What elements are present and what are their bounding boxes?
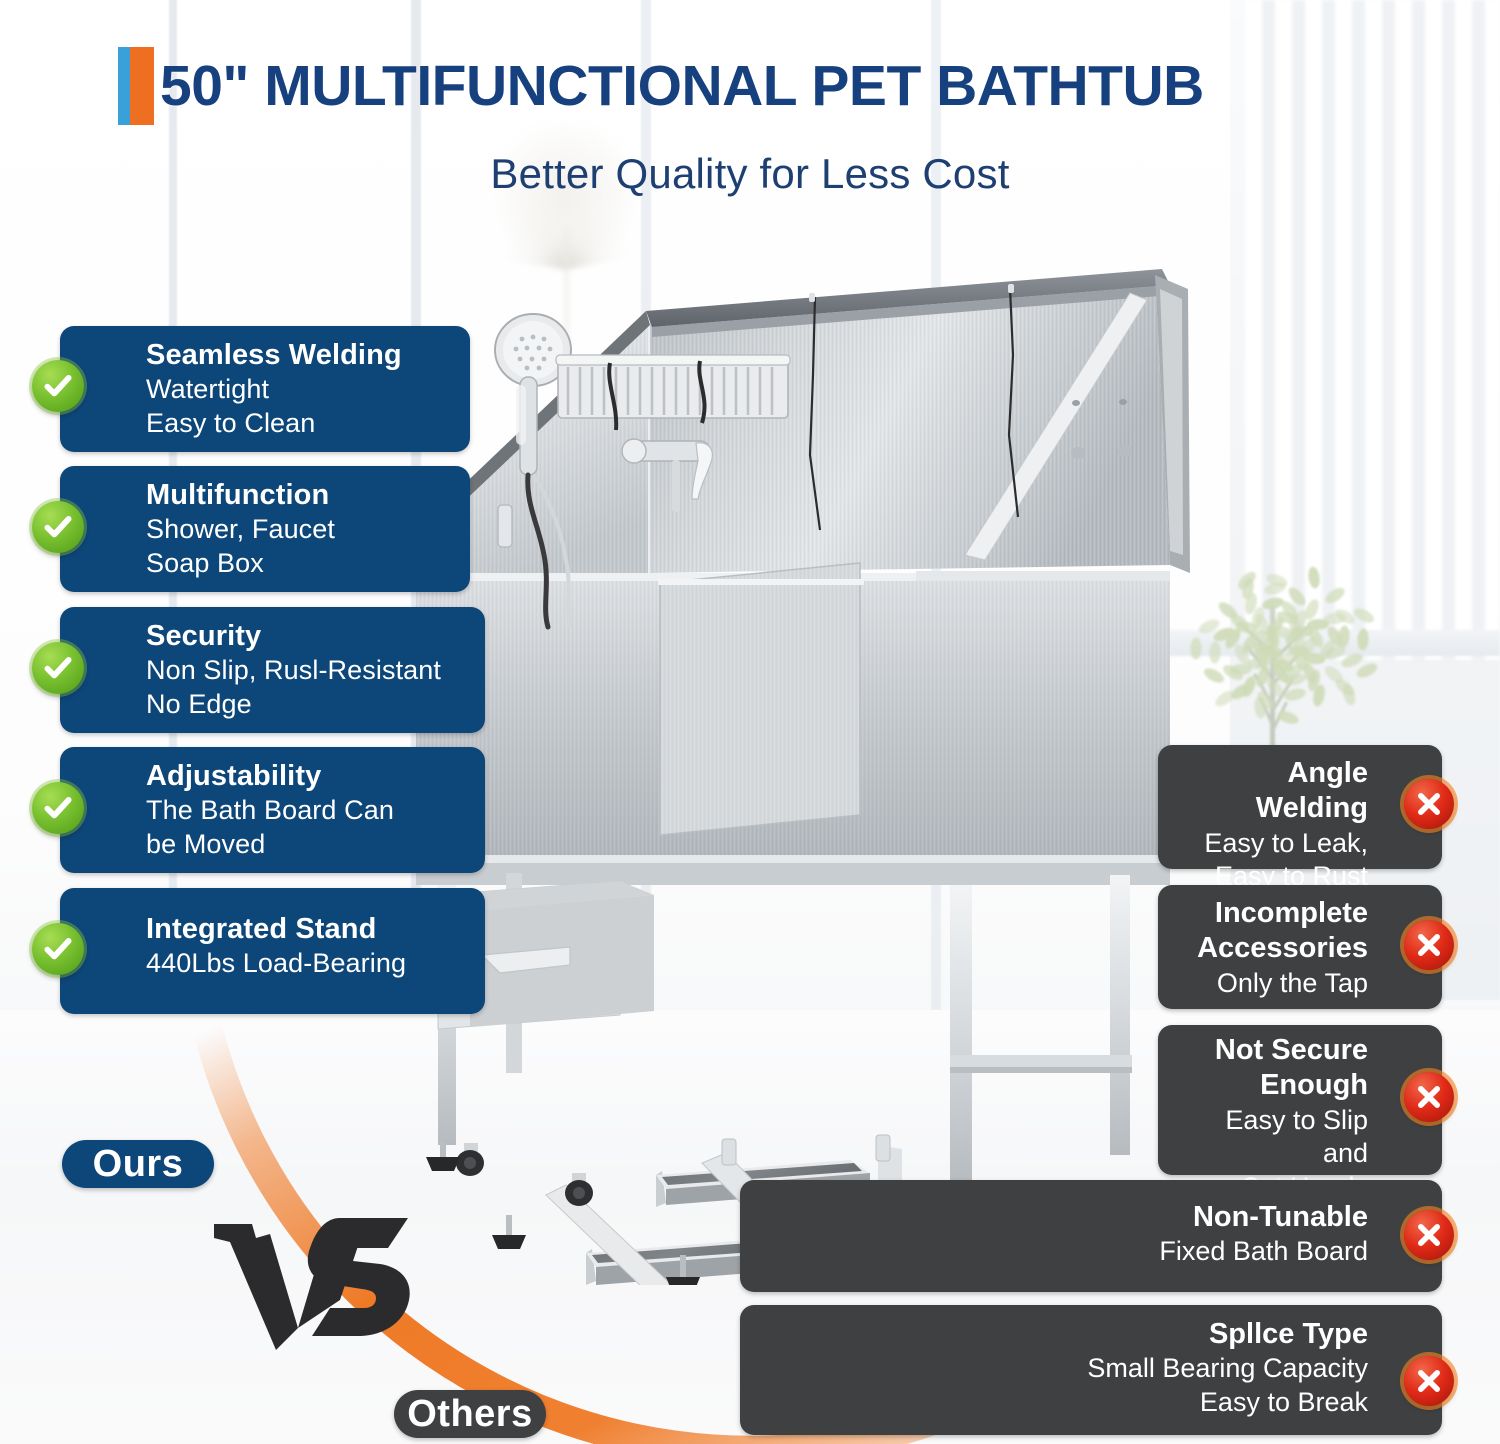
pro-line-2: Easy to Clean <box>146 407 452 440</box>
con-title-line-1: Not Secure <box>1176 1033 1368 1068</box>
pro-box-adjustability[interactable]: Adjustability The Bath Board Can be Move… <box>60 747 485 873</box>
others-badge: Others <box>394 1390 546 1438</box>
pro-box-integrated-stand[interactable]: Integrated Stand 440Lbs Load-Bearing <box>60 888 485 1014</box>
con-box-spllce-type[interactable]: Spllce Type Small Bearing Capacity Easy … <box>740 1305 1442 1435</box>
infographic-canvas: Seamless Welding Watertight Easy to Clea… <box>0 0 1500 1444</box>
pro-line-2: Soap Box <box>146 547 452 580</box>
pro-box-multifunction[interactable]: Multifunction Shower, Faucet Soap Box <box>60 466 470 592</box>
con-line-1: Fixed Bath Board <box>758 1235 1368 1268</box>
pro-line-1: Shower, Faucet <box>146 513 452 546</box>
con-box-angle-welding[interactable]: Angle Welding Easy to Leak, Easy to Rust <box>1158 745 1442 869</box>
pro-title: Adjustability <box>146 759 467 794</box>
accent-bar-blue <box>118 47 130 125</box>
others-label: Others <box>407 1393 532 1436</box>
con-title: Spllce Type <box>758 1317 1368 1352</box>
con-line-1: Easy to Slip and <box>1176 1104 1368 1171</box>
vs-icon <box>212 1212 412 1352</box>
accent-bar-orange <box>130 47 154 125</box>
pro-box-security[interactable]: Security Non Slip, Rusl-Resistant No Edg… <box>60 607 485 733</box>
check-icon <box>32 501 84 553</box>
pro-line-1: 440Lbs Load-Bearing <box>146 947 467 980</box>
con-line-2: Easy to Break <box>758 1386 1368 1419</box>
pro-box-seamless-welding[interactable]: Seamless Welding Watertight Easy to Clea… <box>60 326 470 452</box>
x-icon <box>1404 1356 1454 1406</box>
con-line-1: Only the Tap <box>1176 967 1368 1000</box>
page-title: 50" MULTIFUNCTIONAL PET BATHTUB <box>118 47 1204 125</box>
pro-title: Multifunction <box>146 478 452 513</box>
check-icon <box>32 923 84 975</box>
ours-badge: Ours <box>62 1140 214 1188</box>
con-box-not-secure-enough[interactable]: Not Secure Enough Easy to Slip and Cut H… <box>1158 1025 1442 1175</box>
title-accent-bar <box>118 47 154 125</box>
x-icon <box>1404 1072 1454 1122</box>
con-line-1: Easy to Leak, <box>1176 827 1368 860</box>
x-icon <box>1404 779 1454 829</box>
con-title-line-2: Enough <box>1176 1068 1368 1103</box>
con-title-line-2: Accessories <box>1176 931 1368 966</box>
check-icon <box>32 360 84 412</box>
page-subtitle: Better Quality for Less Cost <box>0 150 1500 198</box>
pro-title: Security <box>146 619 467 654</box>
check-icon <box>32 642 84 694</box>
pro-title: Integrated Stand <box>146 912 467 947</box>
check-icon <box>32 782 84 834</box>
pro-line-1: Watertight <box>146 373 452 406</box>
pro-title: Seamless Welding <box>146 338 452 373</box>
con-box-non-tunable[interactable]: Non-Tunable Fixed Bath Board <box>740 1180 1442 1292</box>
pro-line-1: Non Slip, Rusl-Resistant <box>146 654 467 687</box>
pro-line-1: The Bath Board Can <box>146 794 467 827</box>
con-title-line-1: Incomplete <box>1176 896 1368 931</box>
pro-line-2: be Moved <box>146 828 467 861</box>
con-title: Non-Tunable <box>758 1200 1368 1235</box>
vs-mark: VS <box>212 1212 412 1357</box>
ours-label: Ours <box>93 1143 184 1186</box>
pro-line-2: No Edge <box>146 688 467 721</box>
x-icon <box>1404 920 1454 970</box>
con-title: Angle Welding <box>1176 756 1368 827</box>
con-box-incomplete-accessories[interactable]: Incomplete Accessories Only the Tap <box>1158 885 1442 1009</box>
title-text: 50" MULTIFUNCTIONAL PET BATHTUB <box>160 58 1204 115</box>
con-line-1: Small Bearing Capacity <box>758 1352 1368 1385</box>
x-icon <box>1404 1210 1454 1260</box>
